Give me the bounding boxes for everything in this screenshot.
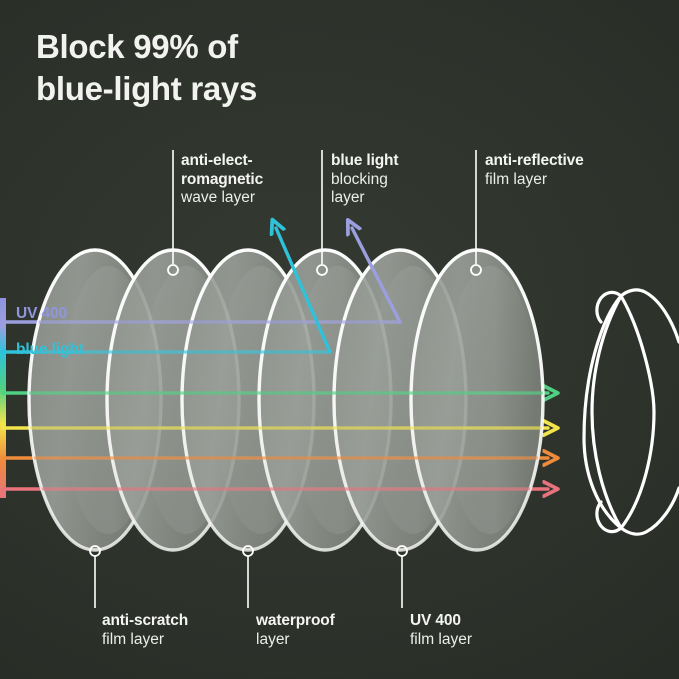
- callout-anti-electromagnetic-subtitle: wave layer: [181, 189, 307, 208]
- lens-layer-anti-reflective: [411, 250, 543, 550]
- callout-anti-reflective-title: anti-reflective: [485, 152, 645, 171]
- callout-blue-light-blocking-subtitle: blocking layer: [331, 171, 435, 208]
- callout-anti-scratch-title: anti-scratch: [102, 612, 232, 631]
- eye-illustration: [584, 290, 679, 534]
- callout-blue-light-blocking: blue light blocking layer: [331, 152, 435, 208]
- callout-anti-reflective: anti-reflective film layer: [485, 152, 645, 189]
- lens-layer-stack: [29, 250, 543, 550]
- callout-anti-reflective-subtitle: film layer: [485, 171, 645, 190]
- callout-waterproof-title: waterproof: [256, 612, 376, 631]
- callout-waterproof: waterproof layer: [256, 612, 376, 649]
- callout-anti-scratch-subtitle: film layer: [102, 631, 232, 650]
- page-title: Block 99% of blue-light rays: [36, 26, 456, 110]
- callout-anti-electromagnetic-title: anti-elect- romagnetic: [181, 152, 307, 189]
- callout-waterproof-subtitle: layer: [256, 631, 376, 650]
- callout-blue-light-blocking-title: blue light: [331, 152, 435, 171]
- spectrum-source-bar: [0, 298, 6, 498]
- ray-label-blue-light: blue light: [16, 341, 84, 359]
- callout-uv400-subtitle: film layer: [410, 631, 530, 650]
- eyelid-bottom-lash: [621, 488, 679, 534]
- eye-outline-upper-right: [621, 296, 654, 412]
- callout-anti-scratch: anti-scratch film layer: [102, 612, 232, 649]
- callout-uv400-title: UV 400: [410, 612, 530, 631]
- eye-outline-upper: [584, 296, 621, 438]
- eye-outline-lower-right: [621, 412, 654, 528]
- callout-anti-electromagnetic: anti-elect- romagnetic wave layer: [181, 152, 307, 208]
- bottom-leader-lines: [90, 546, 407, 608]
- infographic-canvas: Block 99% of blue-light rays anti-elect-…: [0, 0, 679, 679]
- callout-uv400: UV 400 film layer: [410, 612, 530, 649]
- ray-label-uv400: UV 400: [16, 305, 67, 323]
